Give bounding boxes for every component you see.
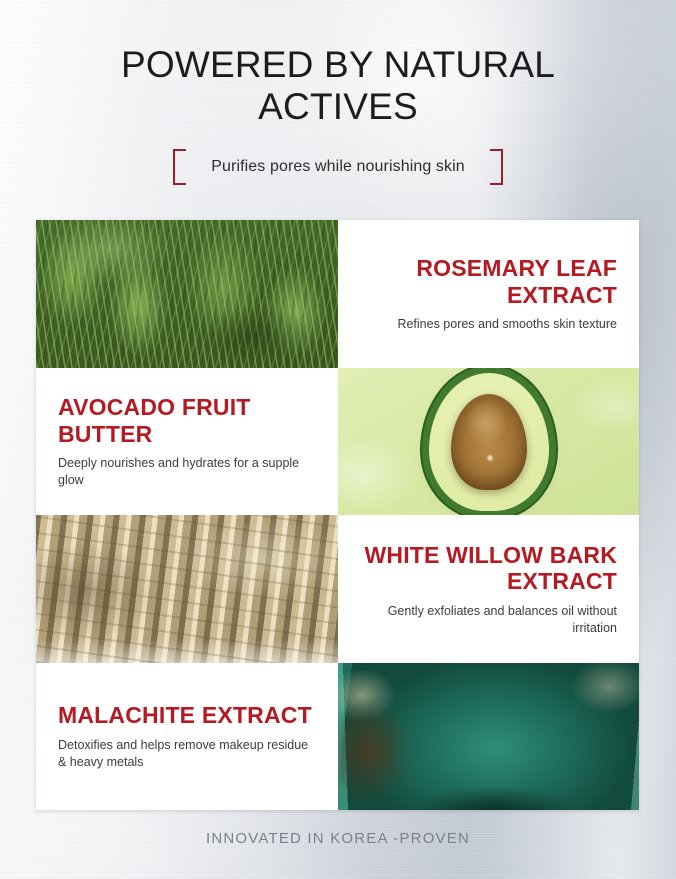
ingredient-description: Refines pores and smooths skin texture: [397, 316, 617, 333]
ingredient-text-cell-avocado: AVOCADO FRUIT BUTTER Deeply nourishes an…: [36, 368, 338, 515]
ingredient-name: MALACHITE EXTRACT: [58, 702, 312, 729]
page-subtitle: Purifies pores while nourishing skin: [211, 158, 465, 176]
malachite-crystal-photo: [338, 663, 639, 810]
ingredient-image-cell-willow: [36, 515, 338, 663]
subtitle-block: Purifies pores while nourishing skin: [169, 149, 507, 185]
avocado-half-photo: [338, 368, 639, 515]
ingredient-image-cell-avocado: [338, 368, 639, 515]
rosemary-plant-photo: [36, 220, 338, 368]
ingredient-name: ROSEMARY LEAF EXTRACT: [360, 255, 617, 308]
ingredient-text-cell-rosemary: ROSEMARY LEAF EXTRACT Refines pores and …: [338, 220, 639, 368]
page-title: POWERED BY NATURAL ACTIVES: [0, 44, 676, 128]
ingredient-description: Detoxifies and helps remove makeup resid…: [58, 737, 310, 771]
ingredient-name: WHITE WILLOW BARK EXTRACT: [360, 542, 617, 595]
avocado-flesh-shape: [429, 373, 549, 511]
willow-bark-bundle-photo: [36, 515, 338, 663]
header: POWERED BY NATURAL ACTIVES Purifies pore…: [0, 0, 676, 185]
bracket-left-icon: [173, 149, 186, 185]
footer-tagline: INNOVATED IN KOREA -PROVEN: [0, 830, 676, 847]
ingredient-description: Deeply nourishes and hydrates for a supp…: [58, 455, 310, 489]
infographic-page: POWERED BY NATURAL ACTIVES Purifies pore…: [0, 0, 676, 879]
ingredient-text-cell-malachite: MALACHITE EXTRACT Detoxifies and helps r…: [36, 663, 338, 810]
bracket-right-icon: [490, 149, 503, 185]
ingredient-text-cell-willow: WHITE WILLOW BARK EXTRACT Gently exfolia…: [338, 515, 639, 663]
ingredient-image-cell-rosemary: [36, 220, 338, 368]
ingredient-name: AVOCADO FRUIT BUTTER: [58, 394, 316, 447]
ingredient-description: Gently exfoliates and balances oil witho…: [365, 603, 617, 637]
ingredient-image-cell-malachite: [338, 663, 639, 810]
ingredients-grid: ROSEMARY LEAF EXTRACT Refines pores and …: [36, 220, 639, 810]
avocado-pit-shape: [451, 394, 527, 490]
